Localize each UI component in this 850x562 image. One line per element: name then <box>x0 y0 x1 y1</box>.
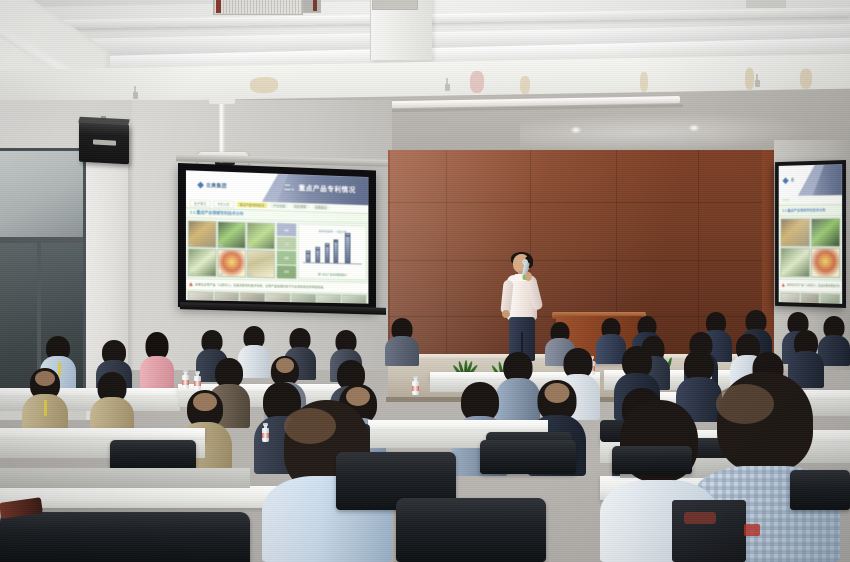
chair <box>480 440 576 474</box>
photo-caption: 图1 <box>190 243 194 247</box>
ceiling-spot-glow <box>570 126 582 134</box>
slide-projected: 北奥集团 二、重点产品专利情况 技术概况 专利分析 重点产品专利情况 产业布局 … <box>186 170 369 303</box>
wall-stain <box>520 76 530 94</box>
slide-tab <box>782 199 789 201</box>
chart-bar-cap <box>315 247 320 250</box>
slide-thumbnail <box>317 293 341 303</box>
slide-chart: 专利申请趋势 — 年度分布 图7 重点产品专利数量统计 <box>298 224 366 280</box>
slide-header: 北奥集团 二、重点产品专利情况 <box>186 170 369 205</box>
desk-foreground <box>0 486 300 508</box>
company-logo-icon <box>782 177 788 184</box>
warning-icon <box>781 283 785 287</box>
ac-vent-grille-3 <box>372 0 418 10</box>
slide-note-text: 本单位主导产品「以机代人」及其关键专利技术布局，主导产品在国内处于行业领先地位并… <box>787 283 839 288</box>
conference-room-photo: 北奥集团 二、重点产品专利情况 技术概况 专利分析 重点产品专利情况 产业布局 … <box>0 0 850 562</box>
slide-note-text: 本单位主导产品「以机代人」及其关键专利技术布局，主导产品在国内处于行业领先地位并… <box>195 282 326 289</box>
bottle-label <box>182 380 189 385</box>
bag-strap <box>684 512 716 524</box>
chart-bar-cap <box>334 239 339 242</box>
slide-photo-grid <box>781 218 841 278</box>
chart-bar <box>315 250 320 263</box>
slide-photo-row: 图4 图5 图6 <box>188 249 275 278</box>
photo-caption: 图2 <box>219 244 223 248</box>
slide-photo: 图1 <box>188 220 217 248</box>
wall-stain <box>800 69 812 89</box>
ac-vent-grille-2 <box>303 0 321 13</box>
chair <box>790 470 850 510</box>
attendee <box>385 318 419 366</box>
photo-caption: 图3 <box>249 244 253 248</box>
slide-on-lcd: 北奥集团 1.1 重点产业领域专利技术分布 <box>779 164 842 304</box>
wood-panel-seam <box>698 150 699 360</box>
slide-photo <box>781 248 810 277</box>
slide-title-bar: 二、重点产品专利情况 <box>271 173 368 204</box>
slide-swatch: 工艺 <box>277 237 297 251</box>
projection-screen-surface: 北奥集团 二、重点产品专利情况 技术概况 专利分析 重点产品专利情况 产业布局 … <box>186 170 369 303</box>
bottle-label <box>412 386 419 391</box>
lcd-screen-surface: 北奥集团 1.1 重点产业领域专利技术分布 <box>779 164 842 304</box>
slide-swatch-column: 材料 工艺 装备 检测 <box>277 223 297 278</box>
slide-photo-row: 图1 图2 图3 <box>188 220 275 250</box>
chair-foreground <box>396 498 546 562</box>
attendee-pink-top <box>140 332 174 390</box>
track-light-head <box>755 80 760 87</box>
projection-screen: 北奥集团 二、重点产品专利情况 技术概况 专利分析 重点产品专利情况 产业布局 … <box>178 163 376 311</box>
warning-icon <box>189 282 193 286</box>
company-logo-text: 北奥集团 <box>206 182 227 190</box>
speaker-top-face <box>78 117 129 126</box>
wall-stain <box>640 72 648 92</box>
slide-photo: 图2 <box>217 221 245 249</box>
lanyard <box>44 400 47 416</box>
presenter-hand-holding-mic <box>525 272 532 281</box>
chart-bar-cap <box>344 233 350 236</box>
attendee-torso <box>140 356 174 390</box>
slide-tab: 产业布局 <box>270 203 288 209</box>
attendee-bald-spot <box>284 408 336 444</box>
chair <box>612 446 692 474</box>
projector-mount-pole <box>219 104 225 156</box>
ceiling-column-shade <box>746 0 786 8</box>
slide-thumbnail <box>781 292 800 304</box>
wall-stain <box>745 68 754 90</box>
presenter <box>500 254 544 366</box>
slide-body: 图1 图2 图3 图4 图5 图6 材料 工艺 装备 <box>186 218 369 282</box>
slide-photo: 图3 <box>247 222 275 250</box>
company-logo-icon <box>197 181 204 188</box>
window-mullion-horizontal <box>0 237 83 243</box>
slide-photo: 图5 <box>217 250 245 278</box>
slide-body <box>779 216 842 280</box>
ceiling-spot-glow <box>688 124 700 132</box>
chart-bar-cap <box>306 251 311 254</box>
slide-thumbnail <box>266 292 291 303</box>
chair-foreground <box>0 512 250 562</box>
slide-photo <box>810 218 840 248</box>
attendee-torso <box>385 336 419 366</box>
slide-thumbnail-strip <box>779 291 842 304</box>
slide-photo-row <box>781 248 841 278</box>
slide-tab: 发展建议 <box>312 205 330 210</box>
slide-photo <box>810 248 840 278</box>
slide-title-bar <box>807 164 842 195</box>
slide-photo: 图6 <box>247 250 275 278</box>
bag-accent <box>744 524 760 536</box>
chair <box>110 440 196 470</box>
photo-caption: 图6 <box>249 273 253 277</box>
track-light-head <box>133 92 138 99</box>
window-glass-upper <box>0 151 83 237</box>
speaker-brand-label <box>93 139 116 145</box>
slide-tab: 风险预警 <box>291 204 309 210</box>
ac-vent-grille-1 <box>213 0 303 15</box>
presenter-free-hand <box>502 310 510 318</box>
lcd-wall-display: 北奥集团 1.1 重点产业领域专利技术分布 <box>775 160 846 308</box>
desk-modesty-panel <box>0 468 250 488</box>
slide-photo-grid: 图1 图2 图3 图4 图5 图6 <box>188 220 275 278</box>
slide-tab: 专利分析 <box>213 200 233 208</box>
photo-caption: 图4 <box>190 271 194 275</box>
bottle-label <box>194 381 201 386</box>
vent-marker-2 <box>313 0 317 11</box>
slide-thumbnail <box>800 293 819 304</box>
slide-section-heading: 1.1 重点产业领域专利技术分布 <box>779 205 842 217</box>
slide-thumbnail <box>214 291 239 303</box>
slide-tab: 技术概况 <box>190 200 210 208</box>
wall-stain <box>250 77 278 94</box>
slide-photo: 图4 <box>188 249 217 277</box>
slide-thumbnail <box>292 293 317 304</box>
slide-header: 北奥集团 <box>779 164 842 196</box>
slide-photo-row <box>781 218 841 248</box>
chart-caption-bottom: 图7 重点产品专利数量统计 <box>299 272 365 277</box>
water-bottle <box>412 376 419 395</box>
slide-tab-active: 重点产品专利情况 <box>237 202 268 208</box>
wall-speaker <box>79 122 129 165</box>
chart-bar <box>306 253 311 262</box>
slide-photo <box>781 218 810 247</box>
water-bottle <box>194 371 201 390</box>
wall-stain <box>470 71 484 93</box>
chart-bar <box>334 242 339 263</box>
slide-thumbnail <box>821 293 841 304</box>
attendee-bald-spot <box>716 384 774 424</box>
chart-caption-top: 专利申请趋势 — 年度分布 <box>299 229 365 235</box>
vent-marker-1 <box>216 0 221 13</box>
chart-bar <box>325 246 330 263</box>
slide-swatch: 检测 <box>277 265 297 278</box>
slide-title: 二、重点产品专利情况 <box>284 183 356 195</box>
slide-thumbnail <box>240 292 265 304</box>
chart-bar <box>344 236 350 263</box>
laptop-bag <box>672 500 746 562</box>
chart-bar-cap <box>325 243 330 246</box>
slide-thumbnail <box>342 294 366 304</box>
slide-swatch: 装备 <box>277 251 297 265</box>
track-light-head <box>445 84 450 91</box>
water-bottle <box>182 370 189 389</box>
chart-x-axis <box>303 262 361 264</box>
photo-caption: 图5 <box>219 272 223 276</box>
slide-swatch: 材料 <box>277 223 297 237</box>
